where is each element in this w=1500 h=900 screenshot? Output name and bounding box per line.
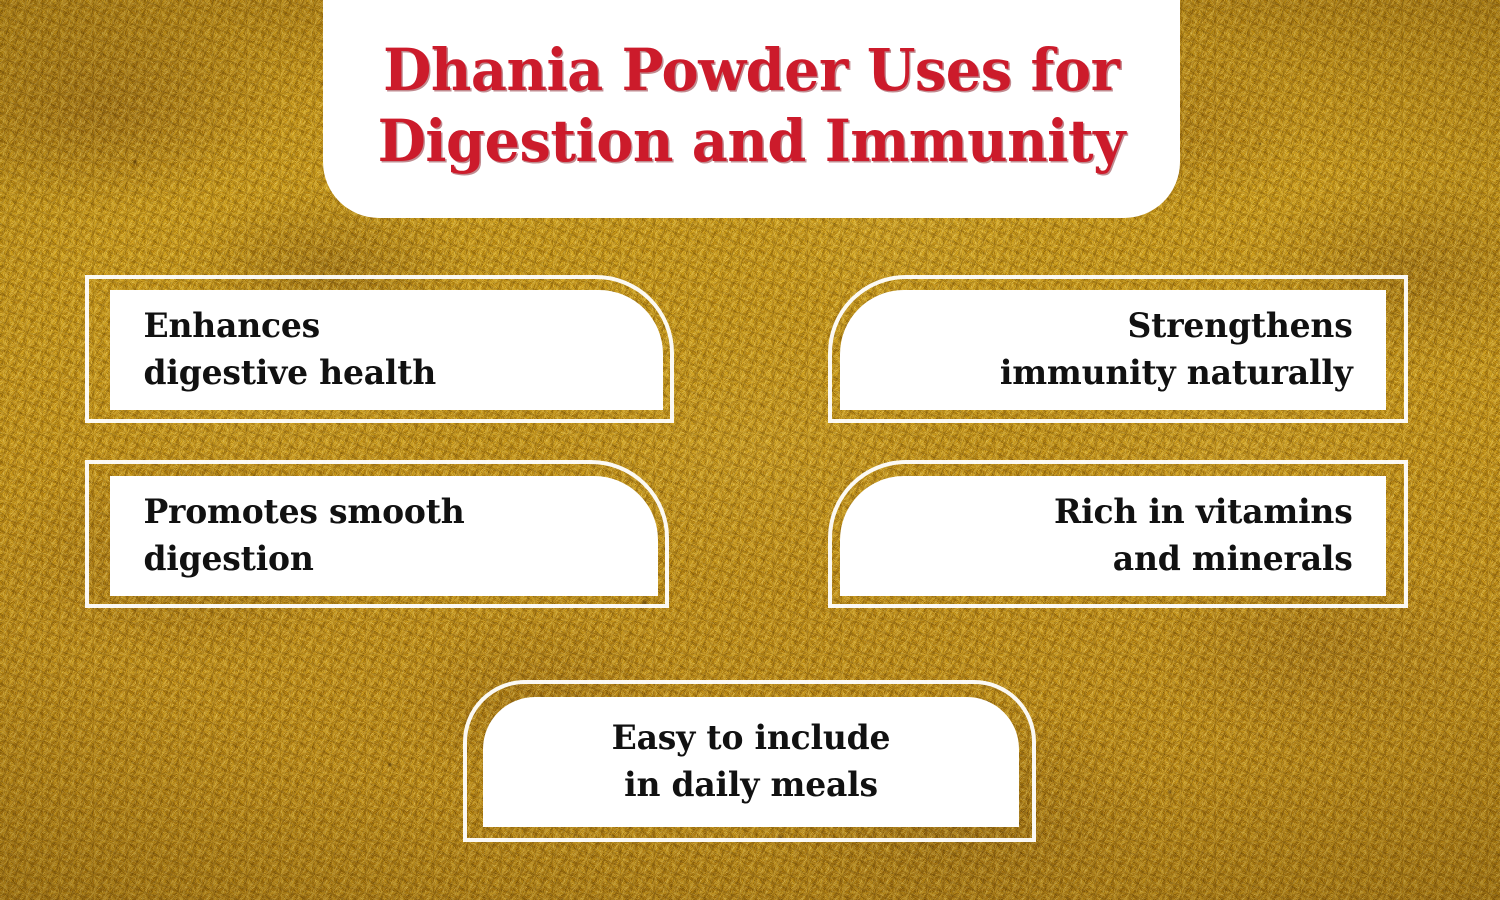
card-label-strengthens-immunity-naturally: Strengthens immunity naturally	[873, 303, 1352, 397]
card-strengthens-immunity-naturally[interactable]: Strengthens immunity naturally	[840, 290, 1386, 410]
card-label-easy-to-include-in-daily-meals: Easy to include in daily meals	[516, 715, 985, 809]
card-label-enhances-digestive-health: Enhances digestive health	[144, 303, 630, 397]
card-label-rich-in-vitamins-and-minerals: Rich in vitamins and minerals	[873, 489, 1352, 583]
card-rich-in-vitamins-and-minerals[interactable]: Rich in vitamins and minerals	[840, 476, 1386, 596]
title-panel: Dhania Powder Uses for Digestion and Imm…	[323, 0, 1180, 218]
card-easy-to-include-in-daily-meals[interactable]: Easy to include in daily meals	[483, 697, 1019, 827]
card-promotes-smooth-digestion[interactable]: Promotes smooth digestion	[110, 476, 658, 596]
card-label-promotes-smooth-digestion: Promotes smooth digestion	[143, 489, 624, 583]
page-title: Dhania Powder Uses for Digestion and Imm…	[378, 35, 1125, 177]
card-enhances-digestive-health[interactable]: Enhances digestive health	[110, 290, 663, 410]
infographic-poster: Dhania Powder Uses for Digestion and Imm…	[0, 0, 1500, 900]
